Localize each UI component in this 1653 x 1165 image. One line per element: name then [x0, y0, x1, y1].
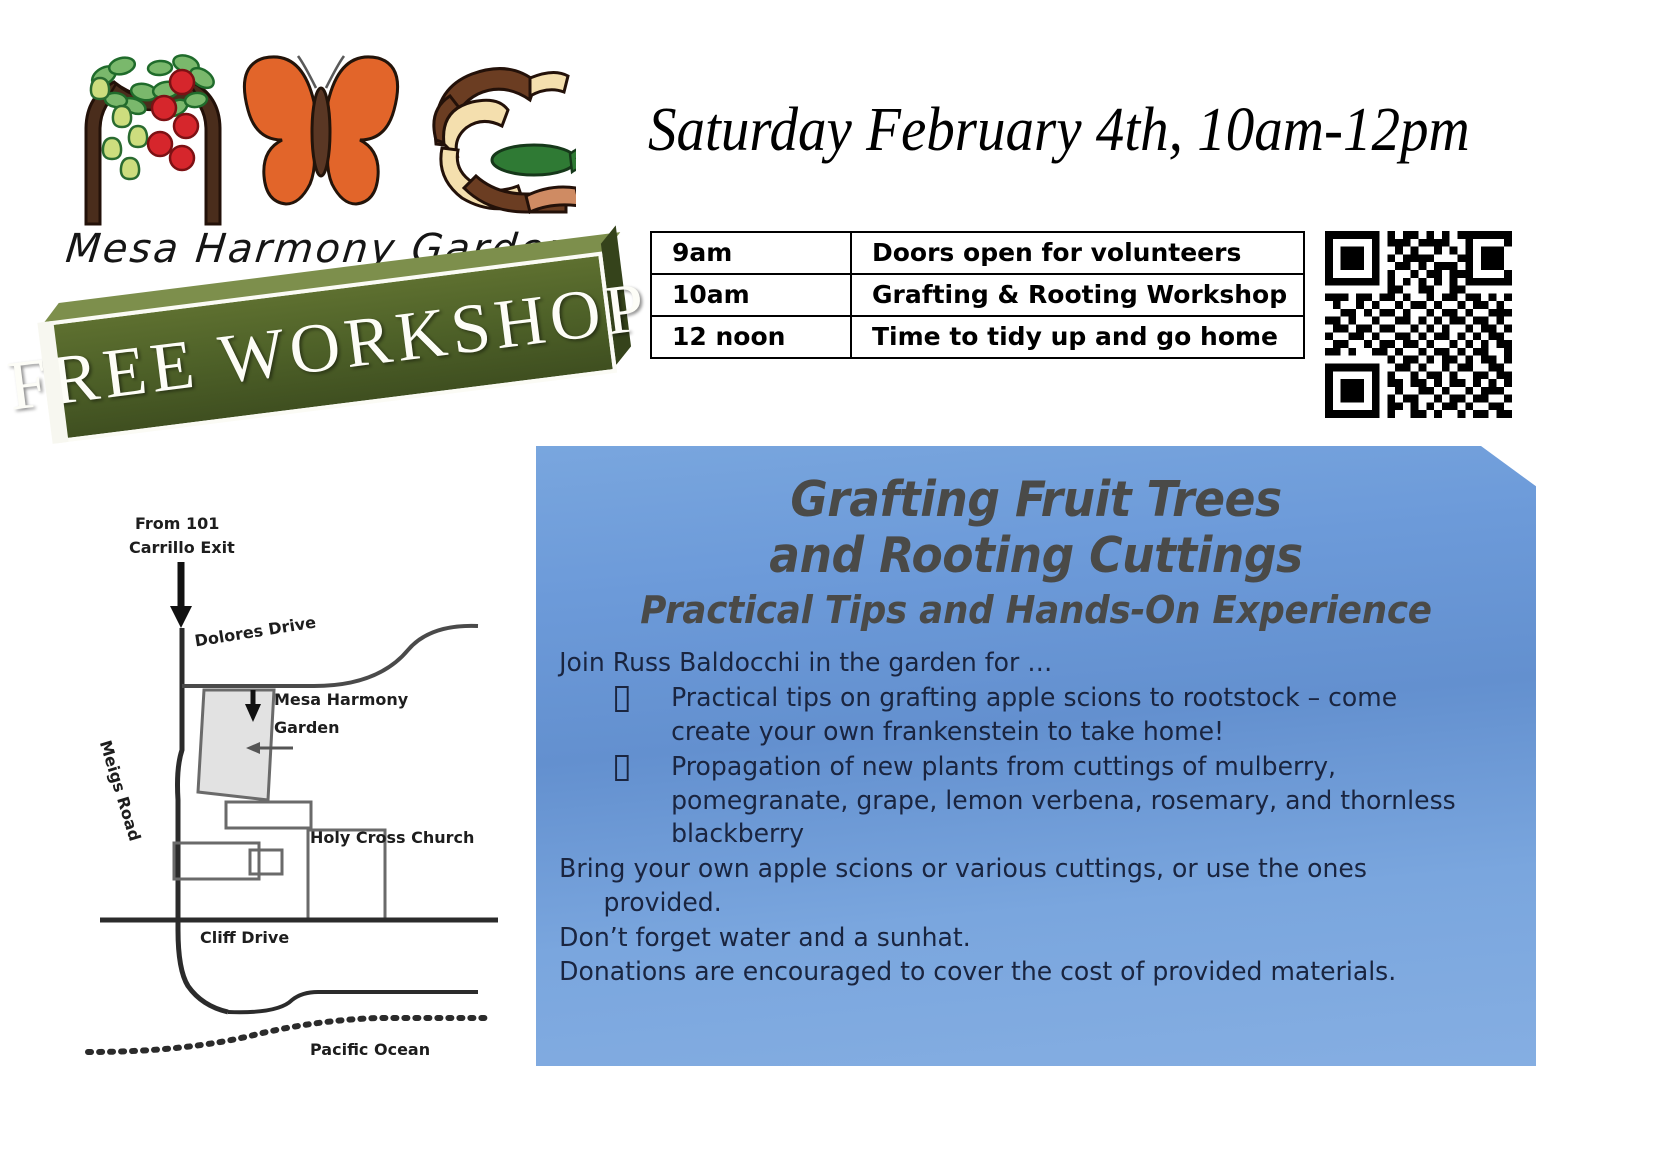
map-drawing: [78, 500, 498, 1080]
table-row: 10am Grafting & Rooting Workshop: [651, 274, 1304, 316]
from-101-arrow-icon: [170, 562, 192, 628]
logo-mark-icon: [56, 34, 576, 234]
schedule-activity: Time to tidy up and go home: [851, 316, 1304, 358]
workshop-intro: Join Russ Baldocchi in the garden for …: [559, 647, 1480, 681]
map-label-carrillo-exit: Carrillo Exit: [129, 538, 235, 557]
table-row: 9am Doors open for volunteers: [651, 232, 1304, 274]
list-item: Practical tips on grafting apple scions …: [615, 682, 1480, 750]
bullet-text: Practical tips on grafting apple scions …: [671, 683, 1397, 747]
hands-holding-zucchini-icon: [434, 69, 576, 212]
map-label-holy-cross-church: Holy Cross Church: [310, 828, 474, 847]
map-label-cliff-drive: Cliff Drive: [200, 928, 289, 947]
missing-glyph-bullet-icon: [615, 686, 629, 712]
workshop-subheading: Practical Tips and Hands-On Experience: [566, 588, 1506, 634]
workshop-closing-bring: Bring your own apple scions or various c…: [559, 853, 1480, 921]
schedule-activity: Grafting & Rooting Workshop: [851, 274, 1304, 316]
schedule-time: 9am: [651, 232, 851, 274]
bullet-text: Propagation of new plants from cuttings …: [671, 752, 1456, 850]
schedule-table: 9am Doors open for volunteers 10am Graft…: [650, 231, 1305, 359]
map-label-mesa-harmony: Mesa Harmony: [274, 690, 408, 709]
map-label-garden: Garden: [274, 718, 340, 737]
workshop-heading-line1: Grafting Fruit Trees: [571, 472, 1501, 528]
map-label-pacific-ocean: Pacific Ocean: [310, 1040, 430, 1059]
workshop-closing-sunhat: Don’t forget water and a sunhat.: [559, 922, 1480, 956]
butterfly-icon: [244, 56, 397, 204]
event-date-headline: Saturday February 4th, 10am-12pm: [648, 95, 1568, 165]
missing-glyph-bullet-icon: [615, 755, 629, 781]
workshop-description-panel: Grafting Fruit Trees and Rooting Cutting…: [536, 446, 1536, 1066]
schedule-time: 10am: [651, 274, 851, 316]
map-label-from-101: From 101: [135, 514, 219, 533]
list-item: Propagation of new plants from cuttings …: [615, 751, 1480, 852]
qr-code[interactable]: [1325, 231, 1512, 418]
table-row: 12 noon Time to tidy up and go home: [651, 316, 1304, 358]
schedule-activity: Doors open for volunteers: [851, 232, 1304, 274]
qr-code-image: [1325, 231, 1512, 418]
workshop-bullet-list: Practical tips on grafting apple scions …: [559, 682, 1480, 852]
workshop-closing-donations: Donations are encouraged to cover the co…: [559, 956, 1480, 990]
workshop-heading-line2: and Rooting Cuttings: [571, 528, 1501, 584]
fruit-tree-icon: [86, 52, 220, 224]
schedule-time: 12 noon: [651, 316, 851, 358]
location-map: From 101 Carrillo Exit Dolores Drive Mes…: [78, 500, 498, 1080]
